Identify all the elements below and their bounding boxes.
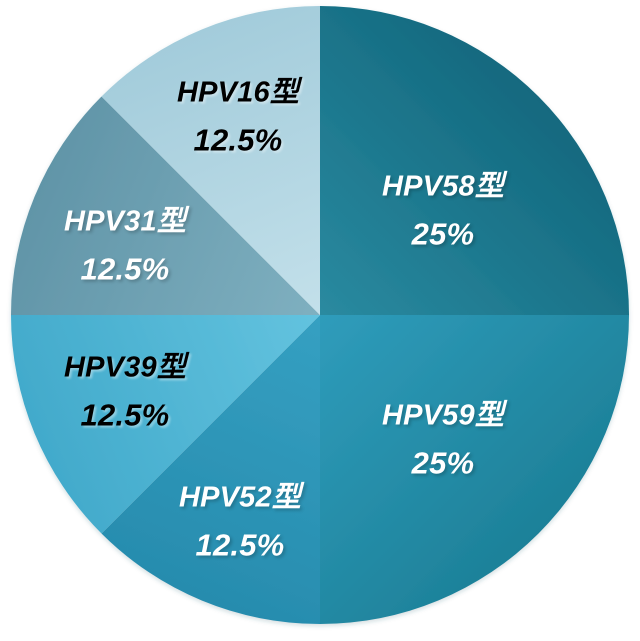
pie-slice-hpv58[interactable] [320, 6, 629, 315]
slice-label-hpv39: HPV39型 12.5% [64, 348, 186, 435]
slice-label-hpv16: HPV16型 12.5% [177, 73, 299, 160]
slice-value-hpv39: 12.5% [64, 394, 186, 436]
slice-value-hpv16: 12.5% [177, 119, 299, 161]
slice-label-hpv31: HPV31型 12.5% [64, 202, 186, 289]
slice-name-hpv59: HPV59型 [382, 396, 504, 435]
slice-name-hpv52: HPV52型 [179, 478, 301, 517]
pie-chart: HPV16型 12.5% HPV31型 12.5% HPV39型 12.5% H… [0, 0, 640, 641]
slice-value-hpv58: 25% [382, 213, 504, 255]
slice-name-hpv58: HPV58型 [382, 167, 504, 206]
slice-label-hpv58: HPV58型 25% [382, 167, 504, 254]
slice-value-hpv31: 12.5% [64, 248, 186, 290]
slice-label-hpv59: HPV59型 25% [382, 396, 504, 483]
slice-value-hpv59: 25% [382, 442, 504, 484]
slice-name-hpv16: HPV16型 [177, 73, 299, 112]
slice-name-hpv31: HPV31型 [64, 202, 186, 241]
slice-value-hpv52: 12.5% [179, 524, 301, 566]
pie-chart-canvas [0, 0, 640, 641]
slice-label-hpv52: HPV52型 12.5% [179, 478, 301, 565]
slice-name-hpv39: HPV39型 [64, 348, 186, 387]
